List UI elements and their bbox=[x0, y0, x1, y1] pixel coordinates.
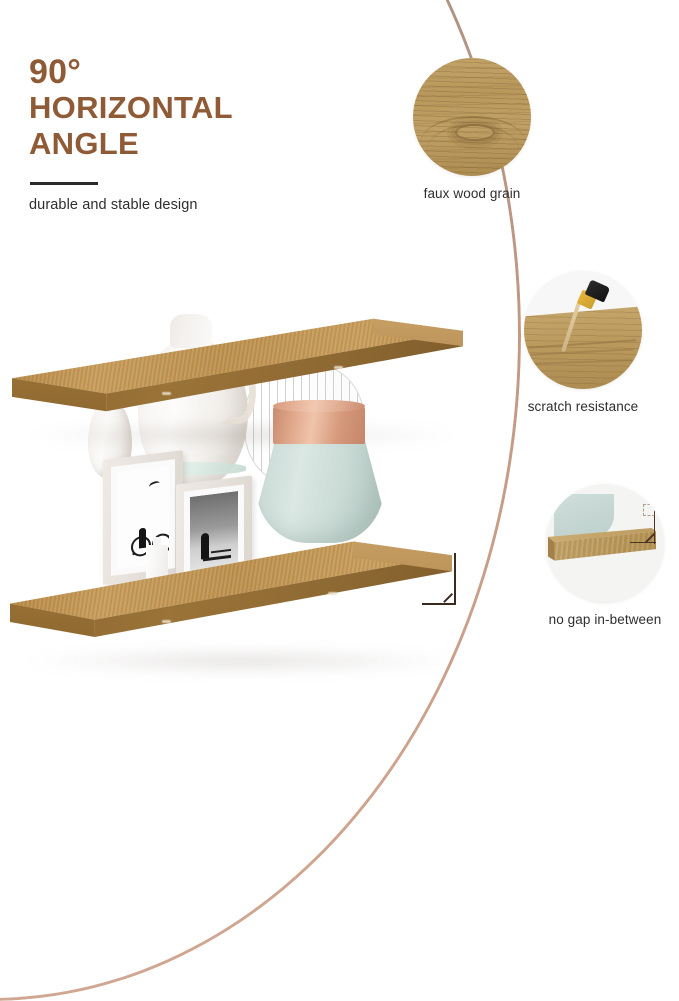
shelf-scene bbox=[0, 150, 500, 680]
callout-caption-faux-wood-grain: faux wood grain bbox=[413, 186, 531, 201]
callout-no-gap: no gap in-between bbox=[546, 484, 664, 627]
mint-copper-vase-body bbox=[256, 435, 384, 543]
right-angle-marker bbox=[634, 498, 662, 554]
headline-angle: 90° bbox=[29, 55, 359, 90]
callout-faux-wood-grain: faux wood grain bbox=[413, 58, 531, 201]
angle-vertical-line bbox=[454, 553, 456, 605]
lower-shelf-shadow bbox=[18, 648, 468, 674]
upper-shelf-screw-left bbox=[162, 392, 171, 395]
bird-icon bbox=[148, 480, 160, 491]
infographic-canvas: 90° HORIZONTAL ANGLE durable and stable … bbox=[0, 0, 679, 705]
angle-horizontal-line bbox=[422, 603, 456, 605]
lower-shelf-screw-left bbox=[162, 620, 171, 623]
wood-grain-swatch-icon bbox=[413, 58, 531, 176]
lower-shelf bbox=[10, 530, 480, 645]
wood-surface bbox=[524, 306, 642, 389]
mint-copper-vase-lip bbox=[273, 400, 365, 412]
upper-shelf-screw-right bbox=[334, 366, 343, 369]
upper-shelf-shadow bbox=[22, 422, 462, 448]
callout-scratch-resistance: scratch resistance bbox=[524, 271, 642, 414]
right-angle-marker bbox=[418, 553, 464, 611]
shelf-wall-joint-icon bbox=[546, 484, 664, 602]
headline-line-1: HORIZONTAL bbox=[29, 90, 359, 125]
wood-knot-icon bbox=[455, 124, 495, 141]
brush-scratch-test-icon bbox=[524, 271, 642, 389]
upper-shelf bbox=[12, 310, 472, 420]
callout-caption-no-gap: no gap in-between bbox=[546, 612, 664, 627]
lower-shelf-screw-right bbox=[328, 592, 337, 595]
angle-horizontal-line bbox=[630, 542, 656, 543]
callout-caption-scratch-resistance: scratch resistance bbox=[524, 399, 642, 414]
angle-tick-icon bbox=[443, 593, 453, 603]
angle-dotted-box-icon bbox=[643, 504, 655, 516]
